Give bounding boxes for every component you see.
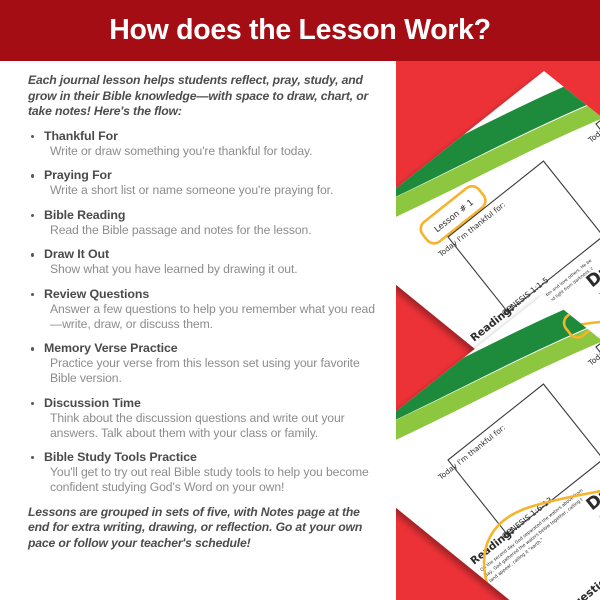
list-item: Praying For Write a short list or name s… <box>28 168 378 198</box>
intro-paragraph: Each journal lesson helps students refle… <box>28 73 378 120</box>
step-description: You'll get to try out real Bible study t… <box>44 465 378 495</box>
list-item: Memory Verse Practice Practice your vers… <box>28 341 378 386</box>
lesson-flow-content: Each journal lesson helps students refle… <box>0 61 396 600</box>
step-description: Practice your verse from this lesson set… <box>44 356 378 386</box>
step-description: Read the Bible passage and notes for the… <box>44 223 378 238</box>
list-item: Draw It Out Show what you have learned b… <box>28 247 378 277</box>
step-title: Thankful For <box>44 129 378 144</box>
step-description: Write a short list or name someone you'r… <box>44 183 378 198</box>
list-item: Bible Reading Read the Bible passage and… <box>28 208 378 238</box>
list-item: Thankful For Write or draw something you… <box>28 129 378 159</box>
lesson-overview-page: How does the Lesson Work? Each journal l… <box>0 0 600 600</box>
step-title: Bible Reading <box>44 208 378 223</box>
list-item: Review Questions Answer a few questions … <box>28 287 378 332</box>
step-title: Review Questions <box>44 287 378 302</box>
step-description: Answer a few questions to help you remem… <box>44 302 378 332</box>
step-description: Think about the discussion questions and… <box>44 411 378 441</box>
step-title: Memory Verse Practice <box>44 341 378 356</box>
list-item: Discussion Time Think about the discussi… <box>28 396 378 441</box>
lesson-steps-list: Thankful For Write or draw something you… <box>28 129 378 495</box>
step-title: Bible Study Tools Practice <box>44 450 378 465</box>
step-title: Draw It Out <box>44 247 378 262</box>
page-title: How does the Lesson Work? <box>109 14 491 47</box>
journal-photo-illustration: Lesson # 1 Today I'm thankful for: Today… <box>396 61 600 600</box>
page-header-bar: How does the Lesson Work? <box>0 0 600 61</box>
step-title: Praying For <box>44 168 378 183</box>
step-title: Discussion Time <box>44 396 378 411</box>
journal-pages-photo: Lesson # 1 Today I'm thankful for: Today… <box>396 61 600 600</box>
outro-paragraph: Lessons are grouped in sets of five, wit… <box>28 505 378 552</box>
step-description: Show what you have learned by drawing it… <box>44 262 378 277</box>
list-item: Bible Study Tools Practice You'll get to… <box>28 450 378 495</box>
step-description: Write or draw something you're thankful … <box>44 144 378 159</box>
